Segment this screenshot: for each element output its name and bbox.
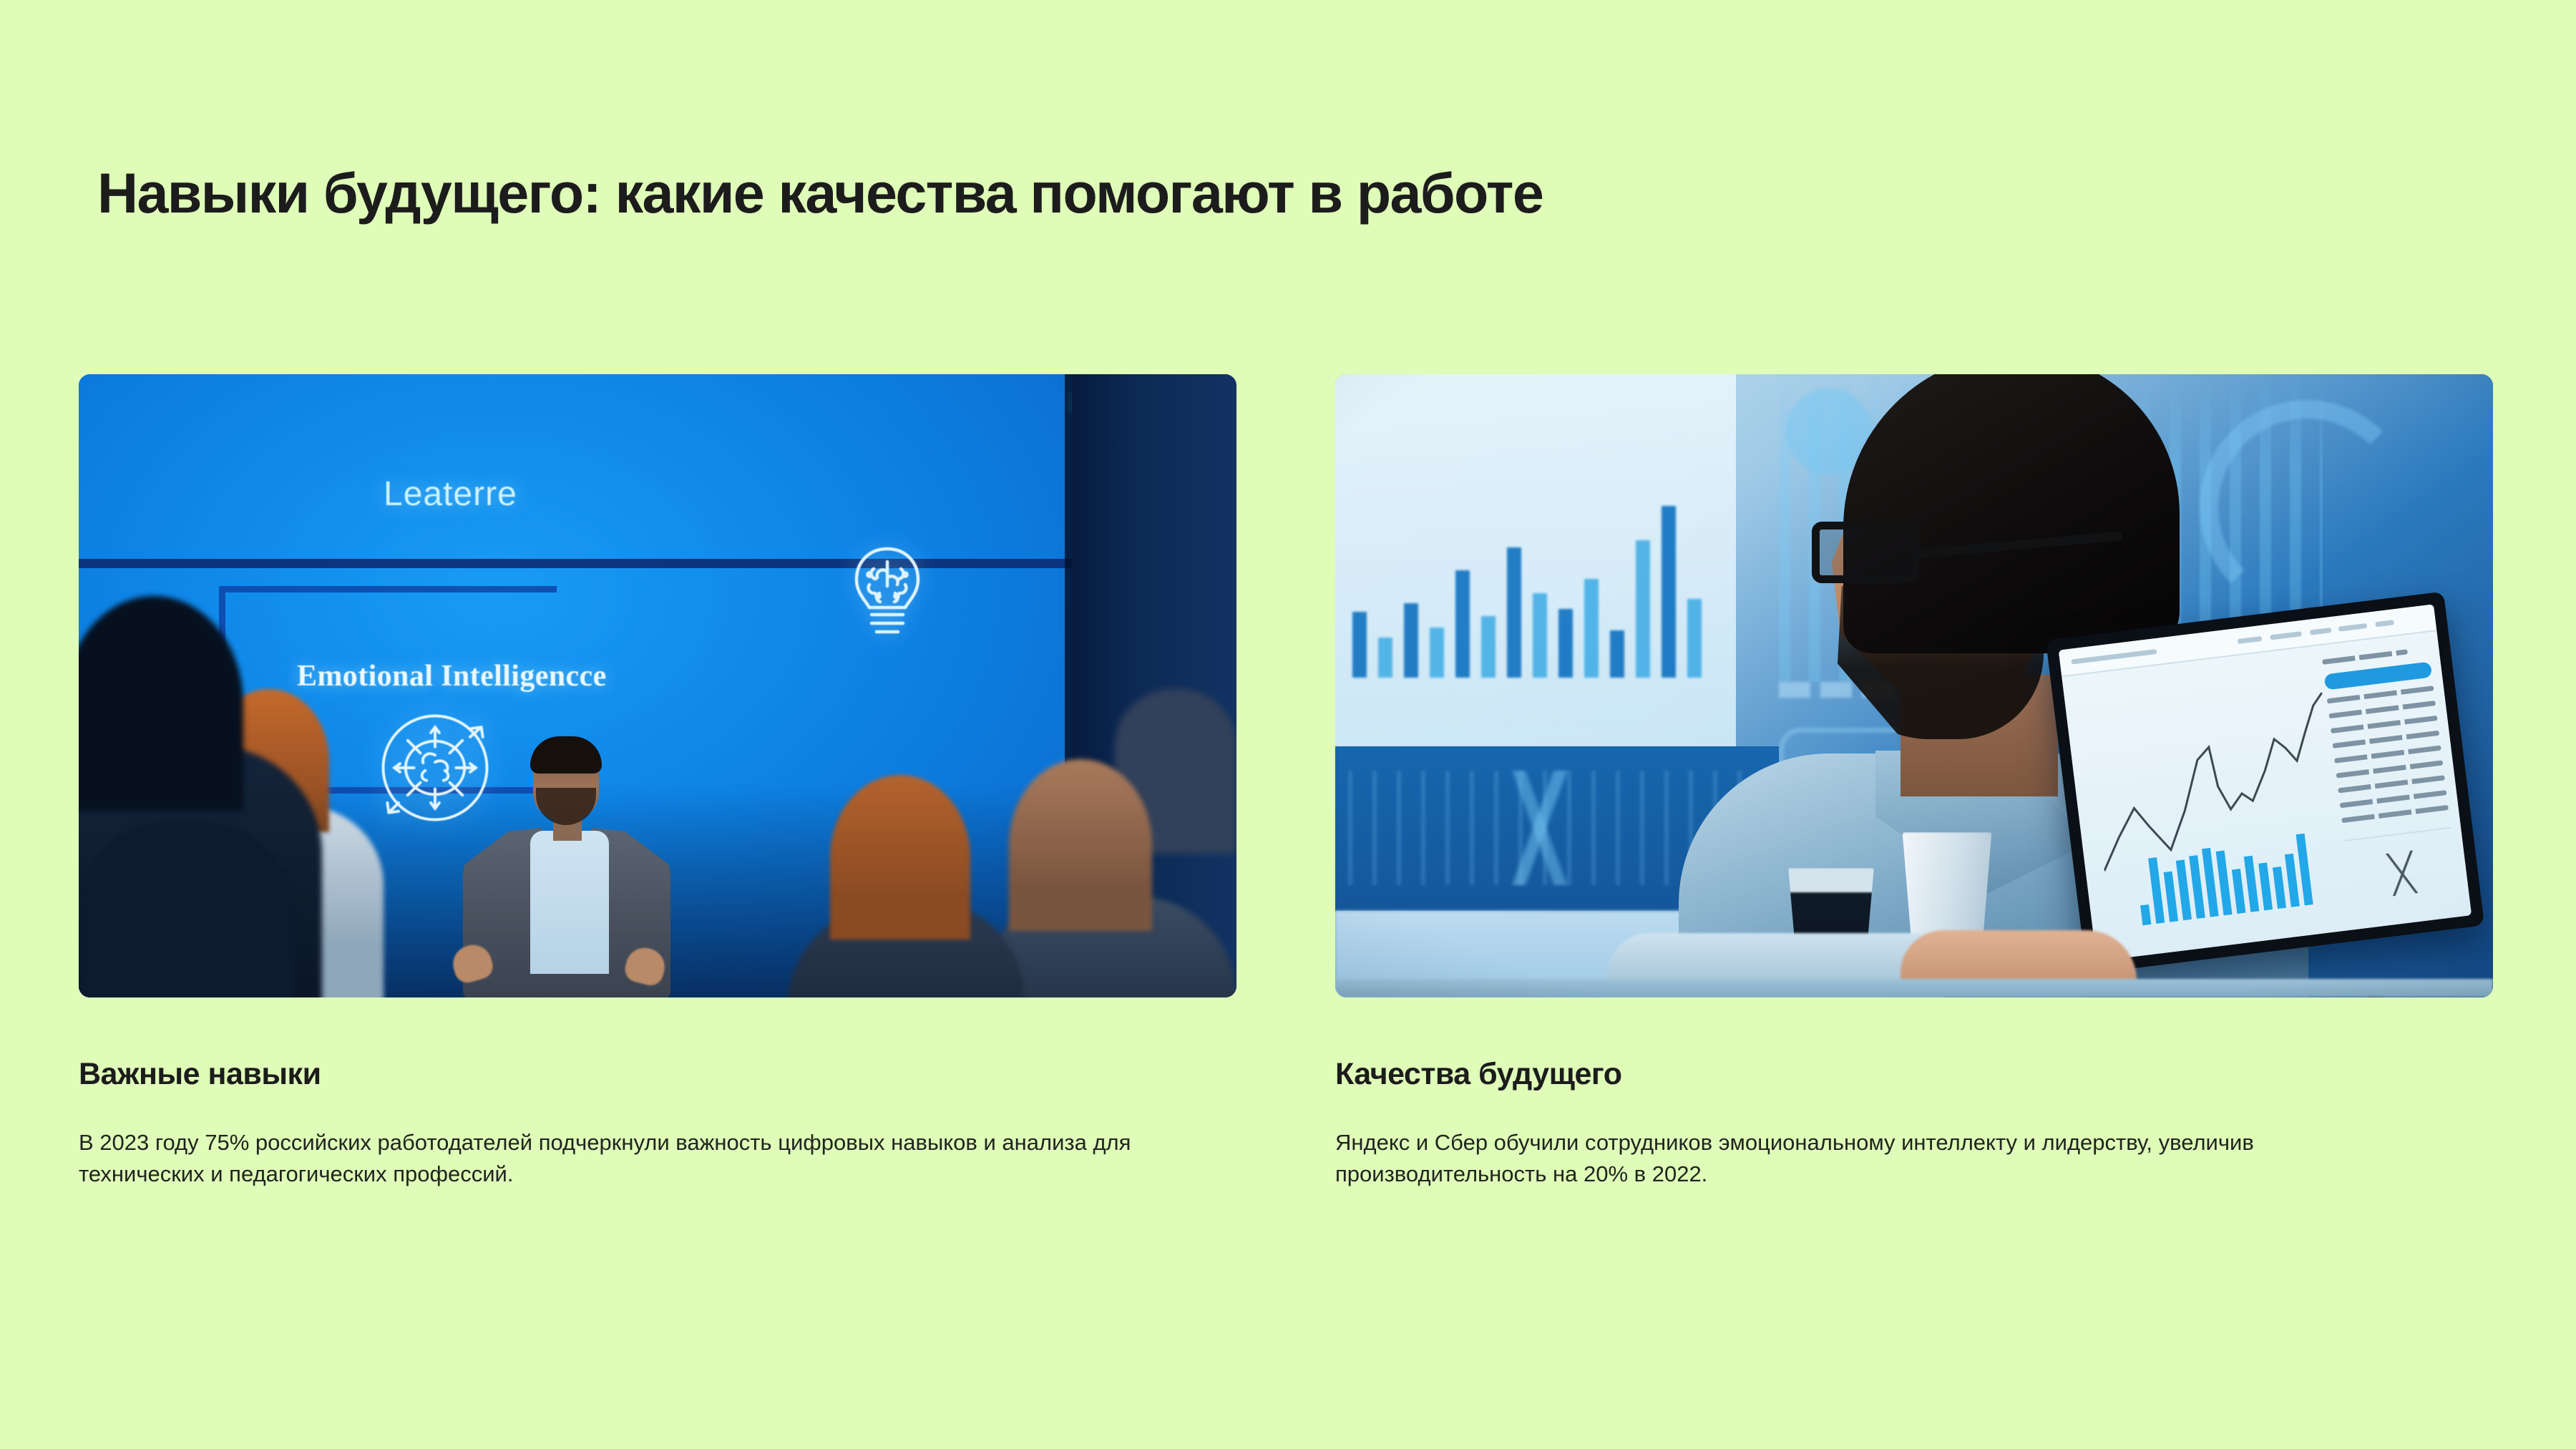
audience-member-right: [830, 775, 970, 940]
glasses-icon: [1807, 522, 2115, 590]
cards-grid: Leaterre Emotional Intelligencce: [79, 374, 2494, 1190]
analyst-scene: [1335, 374, 2493, 997]
audience-member-far-right: [1009, 759, 1152, 931]
speaker-hair: [530, 736, 602, 774]
card-important-skills: Leaterre Emotional Intelligencce: [79, 374, 1236, 1190]
page-title: Навыки будущего: какие качества помогают…: [97, 163, 2480, 223]
card-body-important-skills: В 2023 году 75% российских работодателей…: [79, 1127, 1184, 1190]
speaker-beard: [536, 788, 596, 825]
desk-surface: [1335, 979, 2493, 997]
slide-brand-text: Leaterre: [384, 474, 517, 514]
card-body-future-qualities: Яндекс и Сбер обучили сотрудников эмоцио…: [1335, 1127, 2441, 1190]
data-analyst-monitor-photo: [1335, 374, 2493, 997]
speaker-figure: [446, 741, 682, 997]
card-future-qualities: Качества будущего Яндекс и Сбер обучили …: [1335, 374, 2493, 1190]
presentation-scene: Leaterre Emotional Intelligencce: [79, 374, 1236, 997]
presentation-audience-photo: Leaterre Emotional Intelligencce: [79, 374, 1236, 997]
slide-subtitle-text: Emotional Intelligencce: [297, 659, 607, 693]
audience-member-foreground-left: [80, 822, 295, 997]
page-root: Навыки будущего: какие качества помогают…: [0, 0, 2576, 1449]
dashboard-sparkline-panel: [2344, 827, 2459, 909]
monitor-screen: [2059, 604, 2472, 961]
computer-monitor: [2046, 592, 2484, 975]
card-heading-important-skills: Важные навыки: [79, 1058, 1236, 1091]
brain-lightbulb-icon: [848, 545, 927, 652]
analyst-hair: [1843, 374, 2180, 653]
glasses-temple: [1915, 531, 2122, 558]
glasses-lens: [1812, 522, 1919, 583]
card-heading-future-qualities: Качества будущего: [1335, 1058, 2493, 1091]
speaker-shirt: [530, 831, 609, 974]
left-analytics-panel: [1335, 374, 1736, 746]
left-panel-bars: [1352, 492, 1702, 678]
dashboard-side-panel: [2322, 647, 2450, 833]
